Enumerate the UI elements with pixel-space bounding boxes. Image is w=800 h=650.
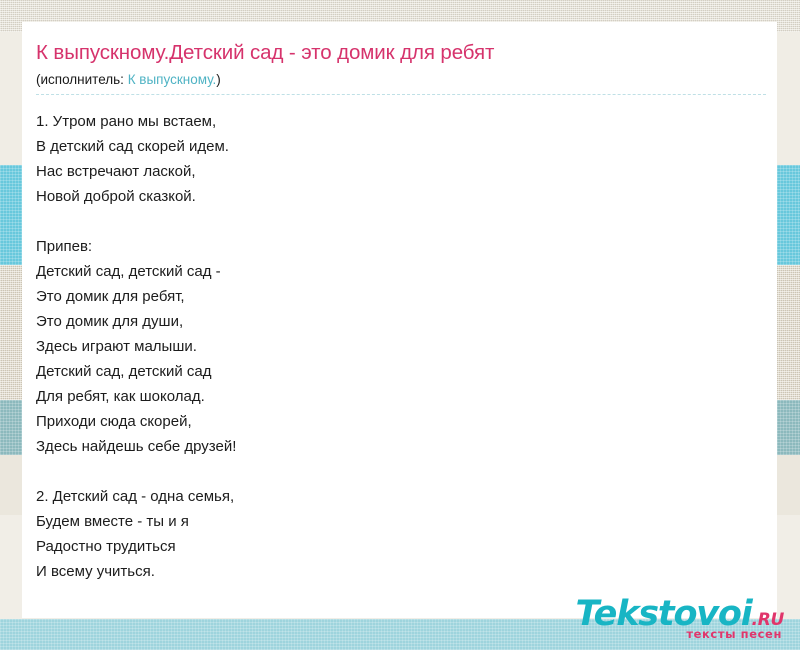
artist-label: (исполнитель: — [36, 72, 128, 87]
site-logo[interactable]: Tekstovoi.RU тексты песен — [576, 597, 785, 641]
artist-line: (исполнитель: К выпускному.) — [36, 71, 777, 88]
lyrics-card: К выпускному.Детский сад - это домик для… — [22, 22, 777, 618]
lyrics-text: 1. Утром рано мы встаем, В детский сад с… — [36, 109, 777, 584]
artist-link[interactable]: К выпускному. — [128, 72, 217, 87]
divider — [36, 94, 766, 95]
logo-tld: .RU — [752, 612, 784, 629]
page-title: К выпускному.Детский сад - это домик для… — [36, 40, 777, 66]
artist-paren-close: ) — [216, 72, 221, 87]
